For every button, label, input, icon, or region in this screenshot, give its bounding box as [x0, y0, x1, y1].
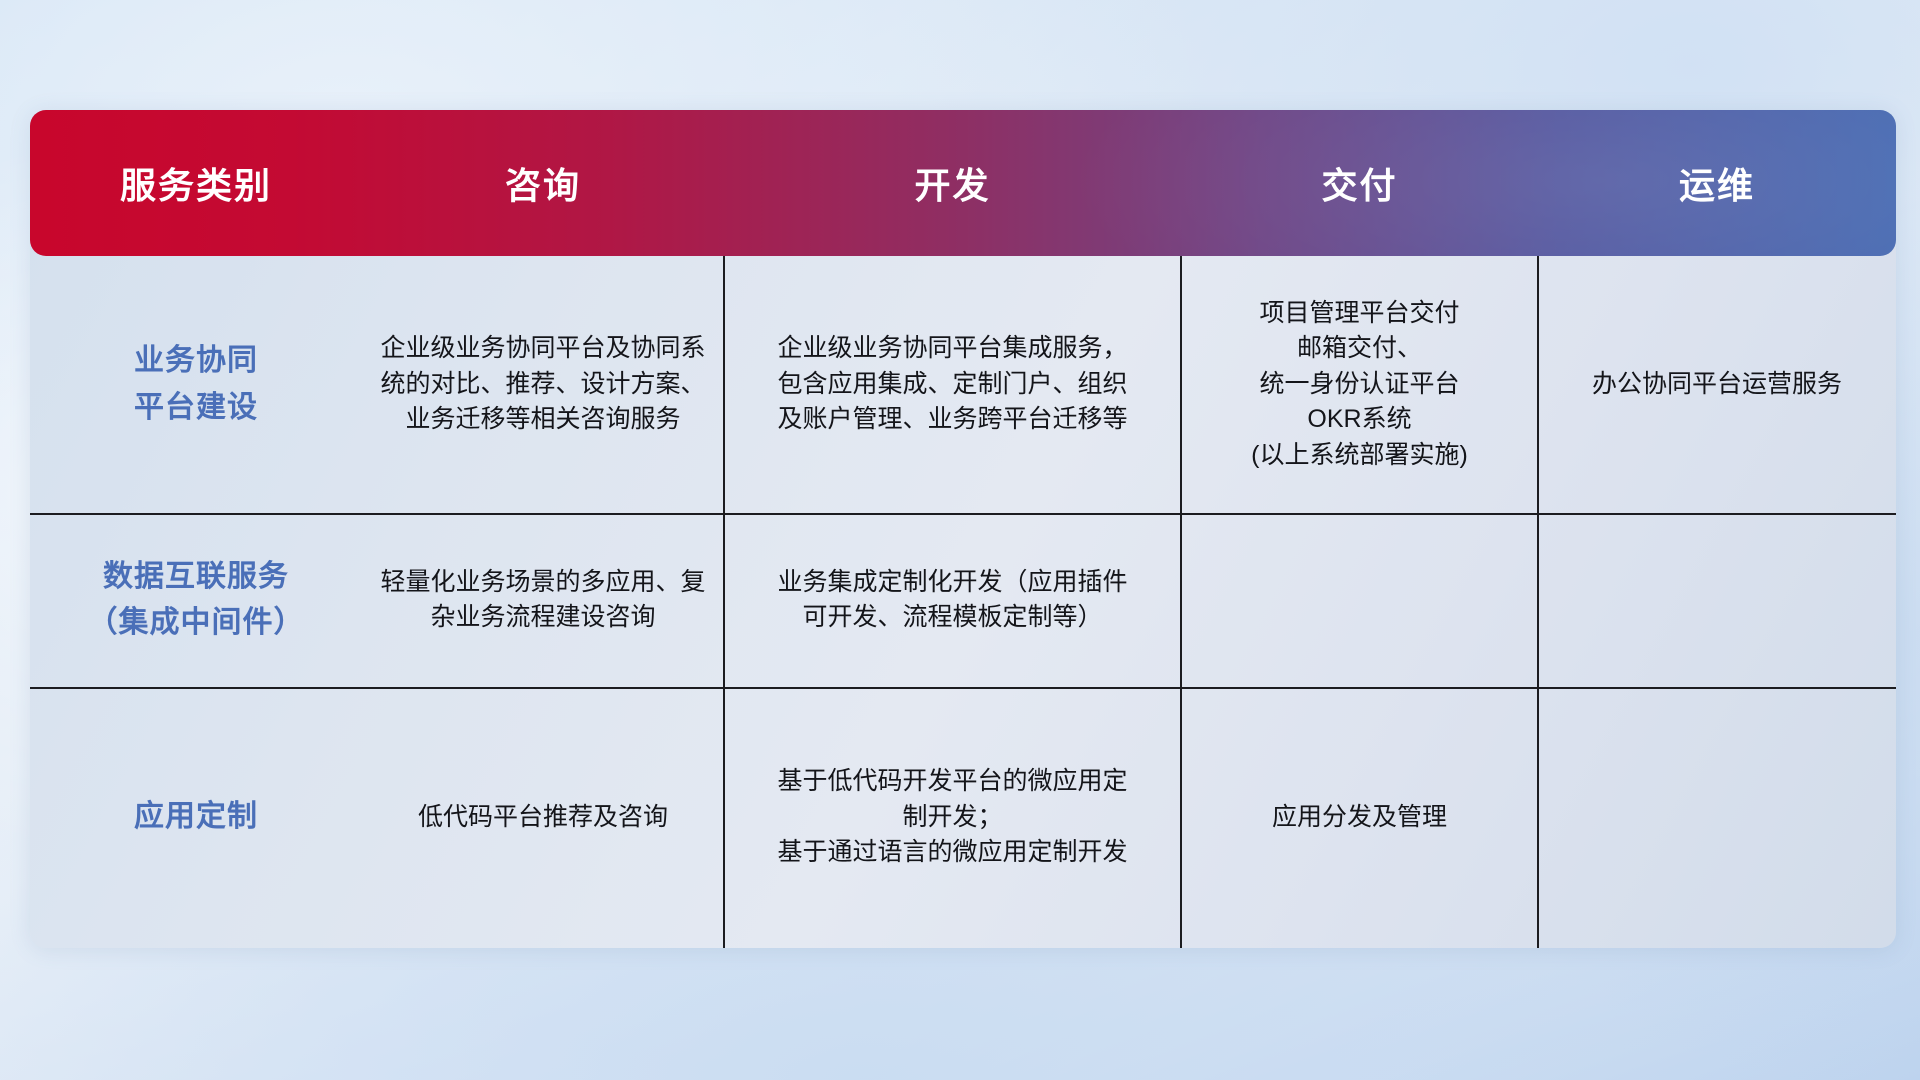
service-matrix-table: 服务类别 咨询 开发 交付 运维 业务协同 平台建设 企业级业务协同平台及协同系…	[30, 110, 1896, 948]
table-body-rows: 业务协同 平台建设 企业级业务协同平台及协同系 统的对比、推荐、设计方案、 业务…	[30, 256, 1896, 948]
cell-development-row1: 企业级业务协同平台集成服务， 包含应用集成、定制门户、组织 及账户管理、业务跨平…	[724, 256, 1181, 513]
cell-consulting-row1: 企业级业务协同平台及协同系 统的对比、推荐、设计方案、 业务迁移等相关咨询服务	[362, 256, 724, 513]
cell-delivery-row1: 项目管理平台交付 邮箱交付、 统一身份认证平台 OKR系统 (以上系统部署实施)	[1181, 256, 1538, 513]
cell-delivery-row3: 应用分发及管理	[1181, 687, 1538, 948]
column-header-category: 服务类别	[30, 157, 362, 209]
column-divider-1	[723, 256, 725, 948]
row-label-business-collab: 业务协同 平台建设	[30, 256, 362, 513]
cell-consulting-row2: 轻量化业务场景的多应用、复 杂业务流程建设咨询	[362, 513, 724, 687]
column-header-delivery: 交付	[1181, 157, 1538, 209]
row-label-app-customization: 应用定制	[30, 687, 362, 948]
row-label-data-interconnect: 数据互联服务 （集成中间件）	[30, 513, 362, 687]
table-row: 应用定制 低代码平台推荐及咨询 基于低代码开发平台的微应用定 制开发； 基于通过…	[30, 687, 1896, 948]
cell-operations-row2	[1538, 513, 1896, 687]
cell-consulting-row3: 低代码平台推荐及咨询	[362, 687, 724, 948]
cell-development-row2: 业务集成定制化开发（应用插件 可开发、流程模板定制等）	[724, 513, 1181, 687]
cell-development-row3: 基于低代码开发平台的微应用定 制开发； 基于通过语言的微应用定制开发	[724, 687, 1181, 948]
table-header-row: 服务类别 咨询 开发 交付 运维	[30, 110, 1896, 256]
column-header-development: 开发	[724, 157, 1181, 209]
cell-operations-row3	[1538, 687, 1896, 948]
row-divider-1	[30, 513, 1896, 515]
cell-delivery-row2	[1181, 513, 1538, 687]
column-header-operations: 运维	[1538, 157, 1896, 209]
column-divider-2	[1180, 256, 1182, 948]
row-divider-2	[30, 687, 1896, 689]
column-divider-3	[1537, 256, 1539, 948]
table-row: 业务协同 平台建设 企业级业务协同平台及协同系 统的对比、推荐、设计方案、 业务…	[30, 256, 1896, 513]
cell-operations-row1: 办公协同平台运营服务	[1538, 256, 1896, 513]
column-header-consulting: 咨询	[362, 157, 724, 209]
table-row: 数据互联服务 （集成中间件） 轻量化业务场景的多应用、复 杂业务流程建设咨询 业…	[30, 513, 1896, 687]
